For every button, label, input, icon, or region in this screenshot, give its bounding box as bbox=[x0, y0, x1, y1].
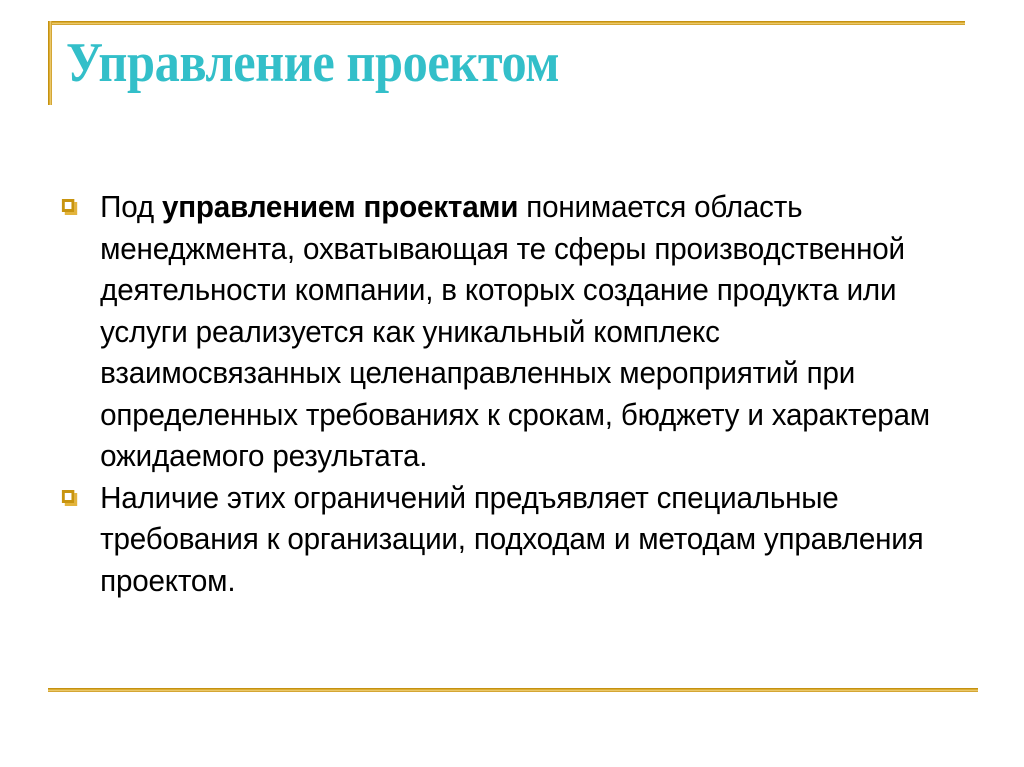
list-item: Наличие этих ограничений предъявляет спе… bbox=[60, 477, 948, 602]
bullet-rest-text: понимается область менеджмента, охватыва… bbox=[100, 189, 930, 473]
bullet-list: Под управлением проектами понимается обл… bbox=[60, 186, 990, 601]
square-bullet-icon bbox=[62, 490, 74, 503]
list-item: Под управлением проектами понимается обл… bbox=[60, 186, 948, 477]
list-item-text: Под управлением проектами понимается обл… bbox=[100, 186, 948, 477]
bullet-lead-text: Наличие этих ограничений предъявляет спе… bbox=[100, 480, 923, 598]
presentation-slide: Управление проектом Под управлением прое… bbox=[0, 0, 1024, 767]
bullet-lead-text: Под bbox=[100, 189, 162, 224]
bullet-bold-text: управлением проектами bbox=[162, 189, 518, 224]
page-title: Управление проектом bbox=[66, 31, 876, 95]
list-item-text: Наличие этих ограничений предъявляет спе… bbox=[100, 477, 948, 602]
square-bullet-icon bbox=[62, 199, 74, 212]
bottom-gold-rule bbox=[48, 688, 978, 692]
left-gold-rule bbox=[48, 21, 52, 105]
top-gold-rule bbox=[48, 21, 965, 25]
